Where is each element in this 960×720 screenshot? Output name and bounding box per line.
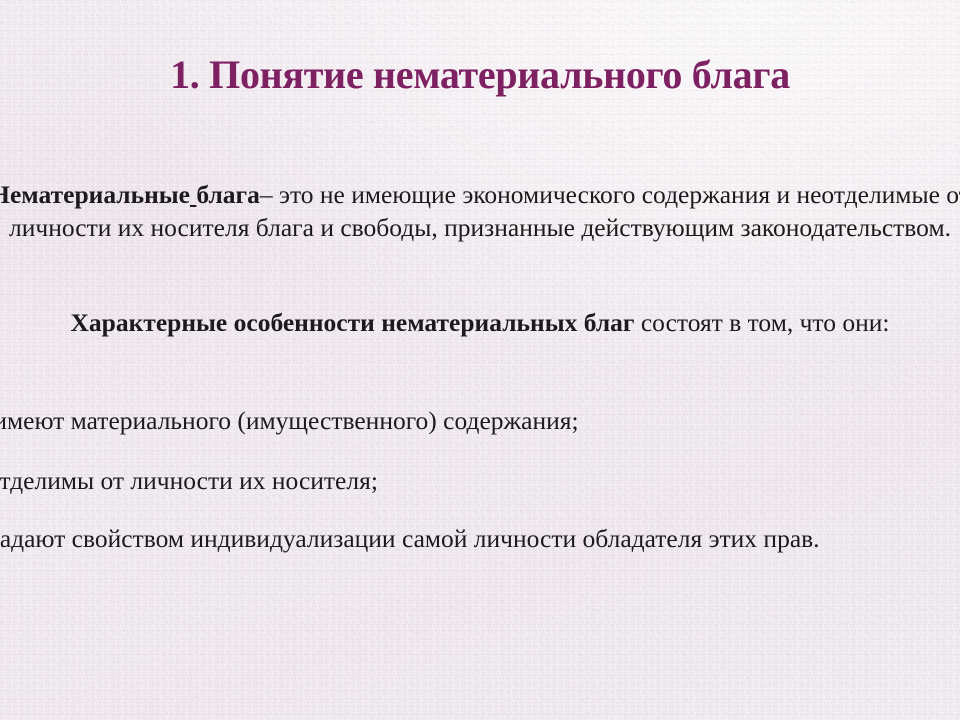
list-item: неотделимы от личности их носителя;: [0, 464, 960, 497]
features-intro-term: Характерные особенности нематериальных б…: [71, 308, 635, 337]
definition-term-tail: блага: [196, 180, 260, 209]
features-intro-text: состоят в том, что они:: [634, 308, 889, 337]
list-item: не имеют материального (имущественного) …: [0, 404, 960, 437]
features-intro-paragraph: Характерные особенности нематериальных б…: [0, 306, 960, 339]
definition-paragraph: Нематериальные блага– это не имеющие эко…: [0, 178, 960, 244]
page-title: 1. Понятие нематериального блага: [0, 52, 960, 98]
definition-term: Нематериальные: [0, 180, 190, 209]
presentation-slide: 1. Понятие нематериального блага Нематер…: [0, 0, 960, 720]
list-item: обладают свойством индивидуализации само…: [0, 522, 960, 555]
